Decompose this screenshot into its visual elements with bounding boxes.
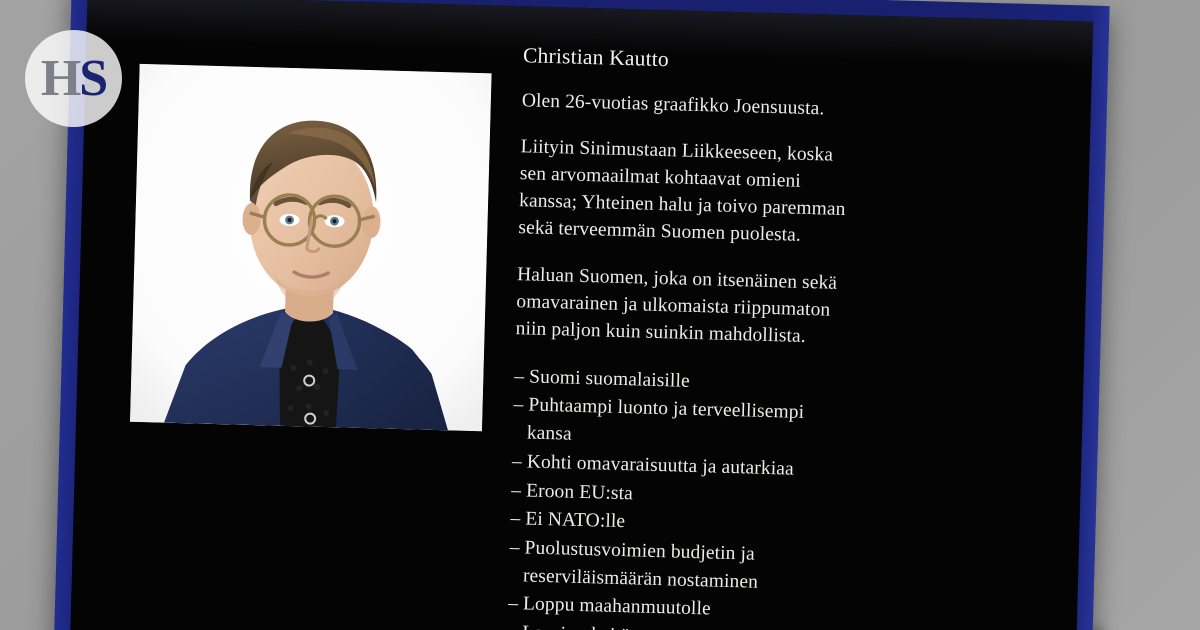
candidate-bio: Christian Kautto Olen 26-vuotias graafik… bbox=[507, 42, 853, 630]
portrait-illustration bbox=[130, 64, 492, 431]
hs-logo-letter-s: S bbox=[79, 50, 106, 107]
bio-paragraph-2: Liityin Sinimustaan Liikkeeseen, koska s… bbox=[518, 135, 851, 252]
candidate-name: Christian Kautto bbox=[523, 42, 854, 78]
candidate-portrait-photo bbox=[130, 64, 492, 431]
hs-logo-letter-h: H bbox=[41, 50, 79, 107]
card-content: Christian Kautto Olen 26-vuotias graafik… bbox=[70, 0, 1093, 630]
hs-watermark-logo: HS bbox=[25, 30, 122, 127]
bio-paragraph-3: Haluan Suomen, joka on itsenäinen sekä o… bbox=[515, 262, 847, 352]
list-item: – Puolustusvoimien budjetin ja reservilä… bbox=[509, 534, 840, 598]
screenshot-stage: Christian Kautto Olen 26-vuotias graafik… bbox=[0, 0, 1200, 630]
list-item: – Puhtaampi luonto ja terveellisempi kan… bbox=[512, 392, 843, 456]
tilted-presentation-card: Christian Kautto Olen 26-vuotias graafik… bbox=[54, 0, 1110, 630]
campaign-bullet-list: – Suomi suomalaisille – Puhtaampi luonto… bbox=[507, 363, 845, 630]
bio-paragraph-1: Olen 26-vuotias graafikko Joensuusta. bbox=[521, 88, 852, 124]
hs-logo-text: HS bbox=[41, 53, 106, 105]
card-black-body: Christian Kautto Olen 26-vuotias graafik… bbox=[70, 0, 1093, 630]
